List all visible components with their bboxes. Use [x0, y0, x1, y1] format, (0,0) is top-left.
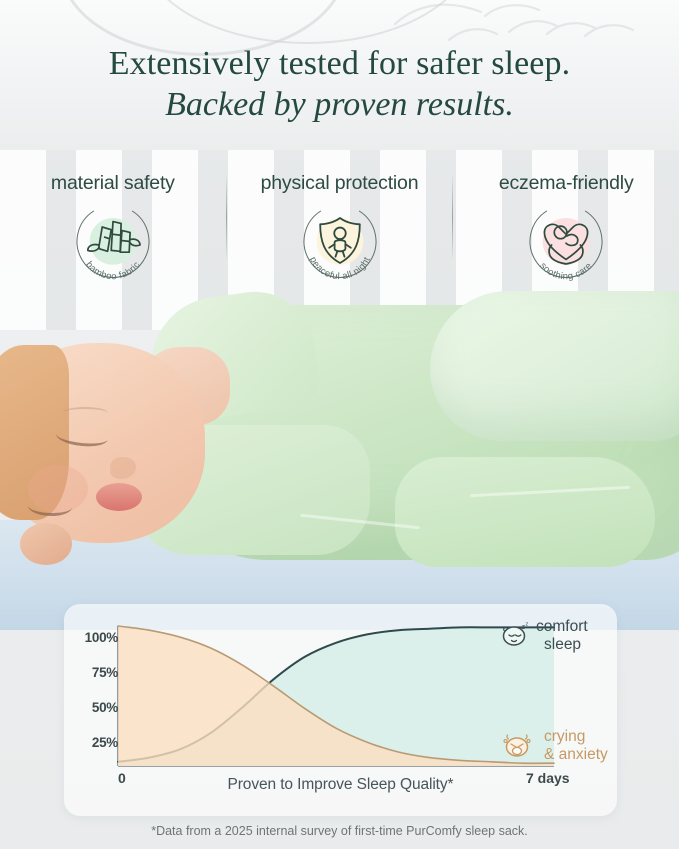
legend-crying-line2: & anxiety — [544, 746, 608, 764]
legend-crying-anxiety: crying & anxiety — [544, 728, 608, 764]
chart-caption: Proven to Improve Sleep Quality* — [64, 776, 617, 794]
badge-ring-physical-protection: peaceful all night — [295, 200, 385, 290]
sleeping-baby-face-icon: z z — [500, 621, 530, 647]
feature-badges: material safety — [0, 172, 679, 297]
sleep-quality-chart-card: 100% 75% 50% 25% 0 7 days z z com — [64, 604, 617, 816]
sleep-sack-fold — [430, 291, 679, 441]
headline-line-1: Extensively tested for safer sleep. — [0, 44, 679, 84]
headline-line-2: Backed by proven results. — [0, 84, 679, 126]
badge-ring-material-safety: bamboo fabric — [68, 200, 158, 290]
y-tick-75: 75% — [92, 665, 118, 680]
svg-text:z: z — [526, 622, 529, 628]
chart-series-layer — [118, 626, 554, 766]
baby-brow — [62, 407, 108, 419]
page-title: Extensively tested for safer sleep. Back… — [0, 44, 679, 126]
badge-material-safety[interactable]: material safety — [0, 172, 226, 290]
badge-title: physical protection — [261, 172, 419, 195]
chart-plot-area: 100% 75% 50% 25% 0 7 days z z com — [64, 604, 617, 816]
legend-comfort-sleep: z z comfort sleep — [536, 618, 588, 654]
footnote: *Data from a 2025 internal survey of fir… — [0, 824, 679, 838]
badge-ring-eczema-friendly: soothing care — [521, 200, 611, 290]
badge-title: material safety — [51, 172, 175, 195]
y-axis-tick-labels: 100% 75% 50% 25% — [70, 618, 118, 766]
legend-crying-line1: crying — [544, 728, 608, 746]
y-tick-50: 50% — [92, 700, 118, 715]
badge-title: eczema-friendly — [499, 172, 634, 195]
badge-physical-protection[interactable]: physical protection — [227, 172, 453, 290]
baby-mouth — [96, 483, 142, 511]
baby-ear — [20, 523, 72, 565]
legend-comfort-line1: comfort — [536, 618, 588, 636]
promo-image-canvas: Extensively tested for safer sleep. Back… — [0, 0, 679, 849]
crying-baby-face-icon — [500, 730, 534, 758]
y-tick-100: 100% — [85, 630, 118, 645]
baby-photo — [0, 285, 679, 630]
headboard-leaf-carving-icon — [389, 0, 649, 50]
sleep-sack-leg — [395, 457, 655, 567]
y-tick-25: 25% — [92, 735, 118, 750]
legend-comfort-line2: sleep — [544, 636, 588, 654]
badge-eczema-friendly[interactable]: eczema-friendly soothing care — [453, 172, 679, 290]
